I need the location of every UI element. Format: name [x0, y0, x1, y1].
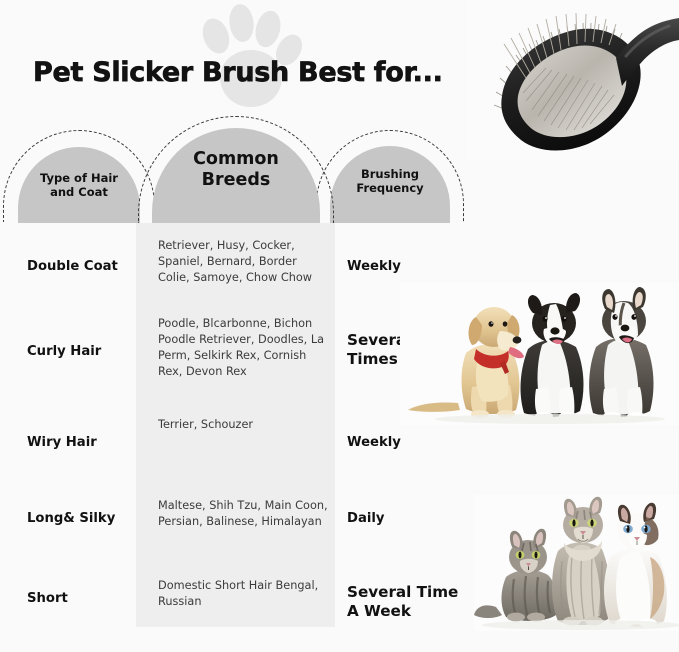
- cell-hair-type: Curly Hair: [27, 344, 132, 360]
- cell-hair-type: Wiry Hair: [27, 435, 132, 451]
- cell-common-breeds: Retriever, Husy, Cocker, Spaniel, Bernar…: [158, 238, 330, 286]
- header-label-common-breeds: Common Breeds: [152, 149, 320, 190]
- cell-hair-type: Double Coat: [27, 259, 132, 275]
- cell-common-breeds: Domestic Short Hair Bengal, Russian: [158, 578, 330, 610]
- three-cats-photo: [474, 495, 679, 631]
- cell-common-breeds: Terrier, Schouzer: [158, 417, 330, 433]
- header-label-brushing-frequency: Brushing Frequency: [330, 168, 450, 195]
- header-label-line1: Common: [152, 149, 320, 170]
- cell-brushing-frequency: Weekly: [347, 259, 467, 275]
- three-dogs-photo: [400, 283, 679, 425]
- cell-common-breeds: Poodle, Blcarbonne, Bichon Poodle Retrie…: [158, 316, 330, 380]
- header-label-line2: and Coat: [18, 186, 140, 200]
- slicker-brush-photo: [466, 0, 679, 160]
- column-headers: Type of Hair and Coat Brushing Frequency…: [0, 118, 470, 223]
- infographic-root: Pet Slicker Brush Best for... Type of Ha…: [0, 0, 679, 652]
- header-label-type-of-hair: Type of Hair and Coat: [18, 172, 140, 199]
- paw-print-icon: [196, 2, 306, 110]
- cell-brushing-frequency: Daily: [347, 511, 467, 527]
- cell-brushing-frequency: Weekly: [347, 435, 467, 451]
- cell-common-breeds: Maltese, Shih Tzu, Main Coon, Persian, B…: [158, 498, 330, 530]
- cell-hair-type: Long& Silky: [27, 511, 132, 527]
- header-label-line2: Frequency: [330, 182, 450, 196]
- header-label-line2: Breeds: [152, 170, 320, 191]
- cell-hair-type: Short: [27, 591, 132, 607]
- header-label-line1: Type of Hair: [18, 172, 140, 186]
- page-title: Pet Slicker Brush Best for...: [33, 57, 443, 88]
- cell-brushing-frequency: Several Time A Week: [347, 583, 467, 620]
- header-label-line1: Brushing: [330, 168, 450, 182]
